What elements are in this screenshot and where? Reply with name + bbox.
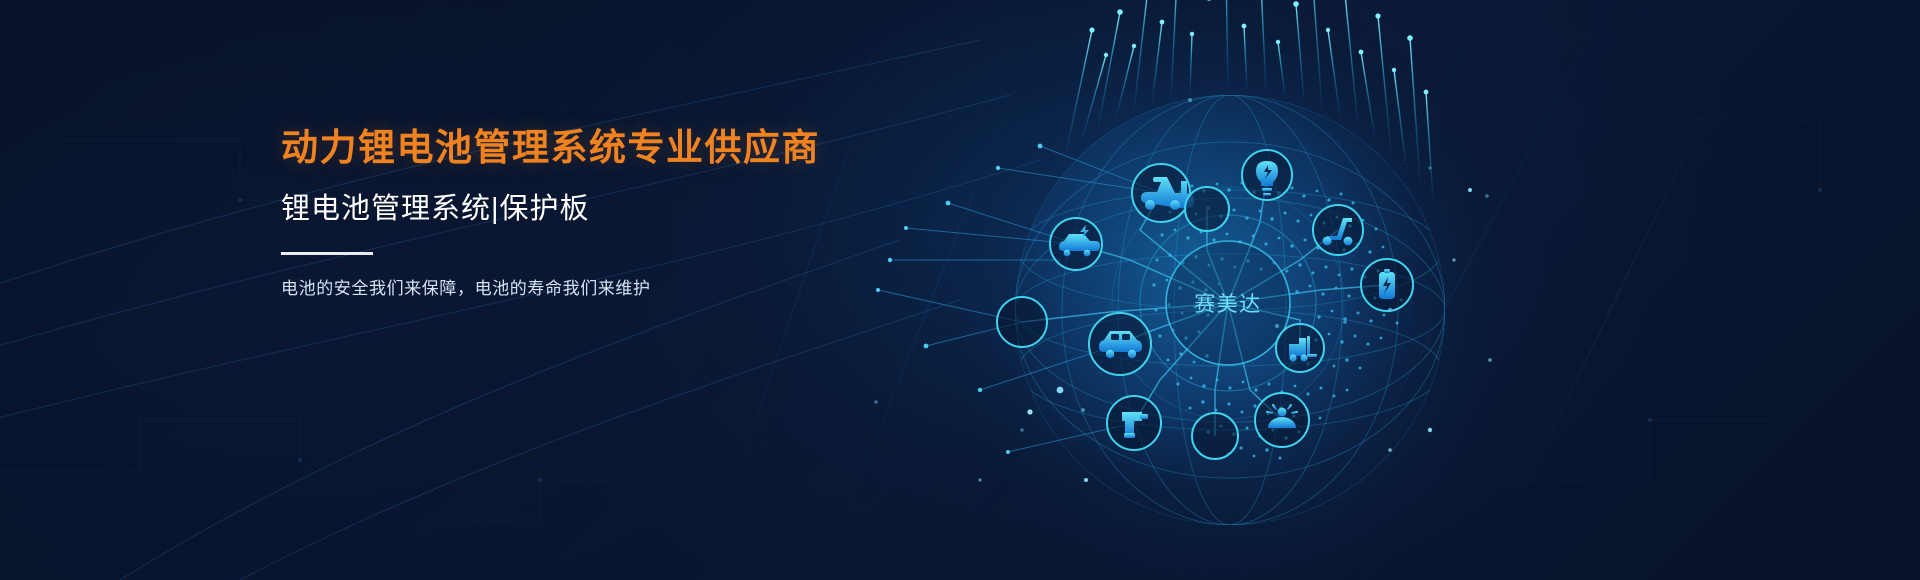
node-empty-low[interactable] [1192, 413, 1238, 459]
node-forklift[interactable] [1276, 324, 1324, 372]
node-ev-car[interactable] [1050, 218, 1102, 270]
node-empty-top[interactable] [1185, 187, 1229, 231]
node-lightbulb[interactable] [1242, 150, 1292, 200]
battery-icon [1379, 269, 1395, 299]
node-robot-vac[interactable] [1255, 393, 1309, 447]
node-power-tool[interactable] [1107, 396, 1161, 450]
globe-network-graphic: 赛美达 [830, 0, 1530, 580]
title-divider [281, 252, 373, 255]
node-battery[interactable] [1361, 259, 1413, 311]
globe-center-label: 赛美达 [1194, 293, 1262, 316]
node-escooter[interactable] [1313, 205, 1363, 255]
hero-banner: 动力锂电池管理系统专业供应商 锂电池管理系统|保护板 电池的安全我们来保障，电池… [0, 0, 1920, 580]
node-empty-left[interactable] [997, 297, 1047, 347]
node-sedan[interactable] [1089, 313, 1151, 375]
